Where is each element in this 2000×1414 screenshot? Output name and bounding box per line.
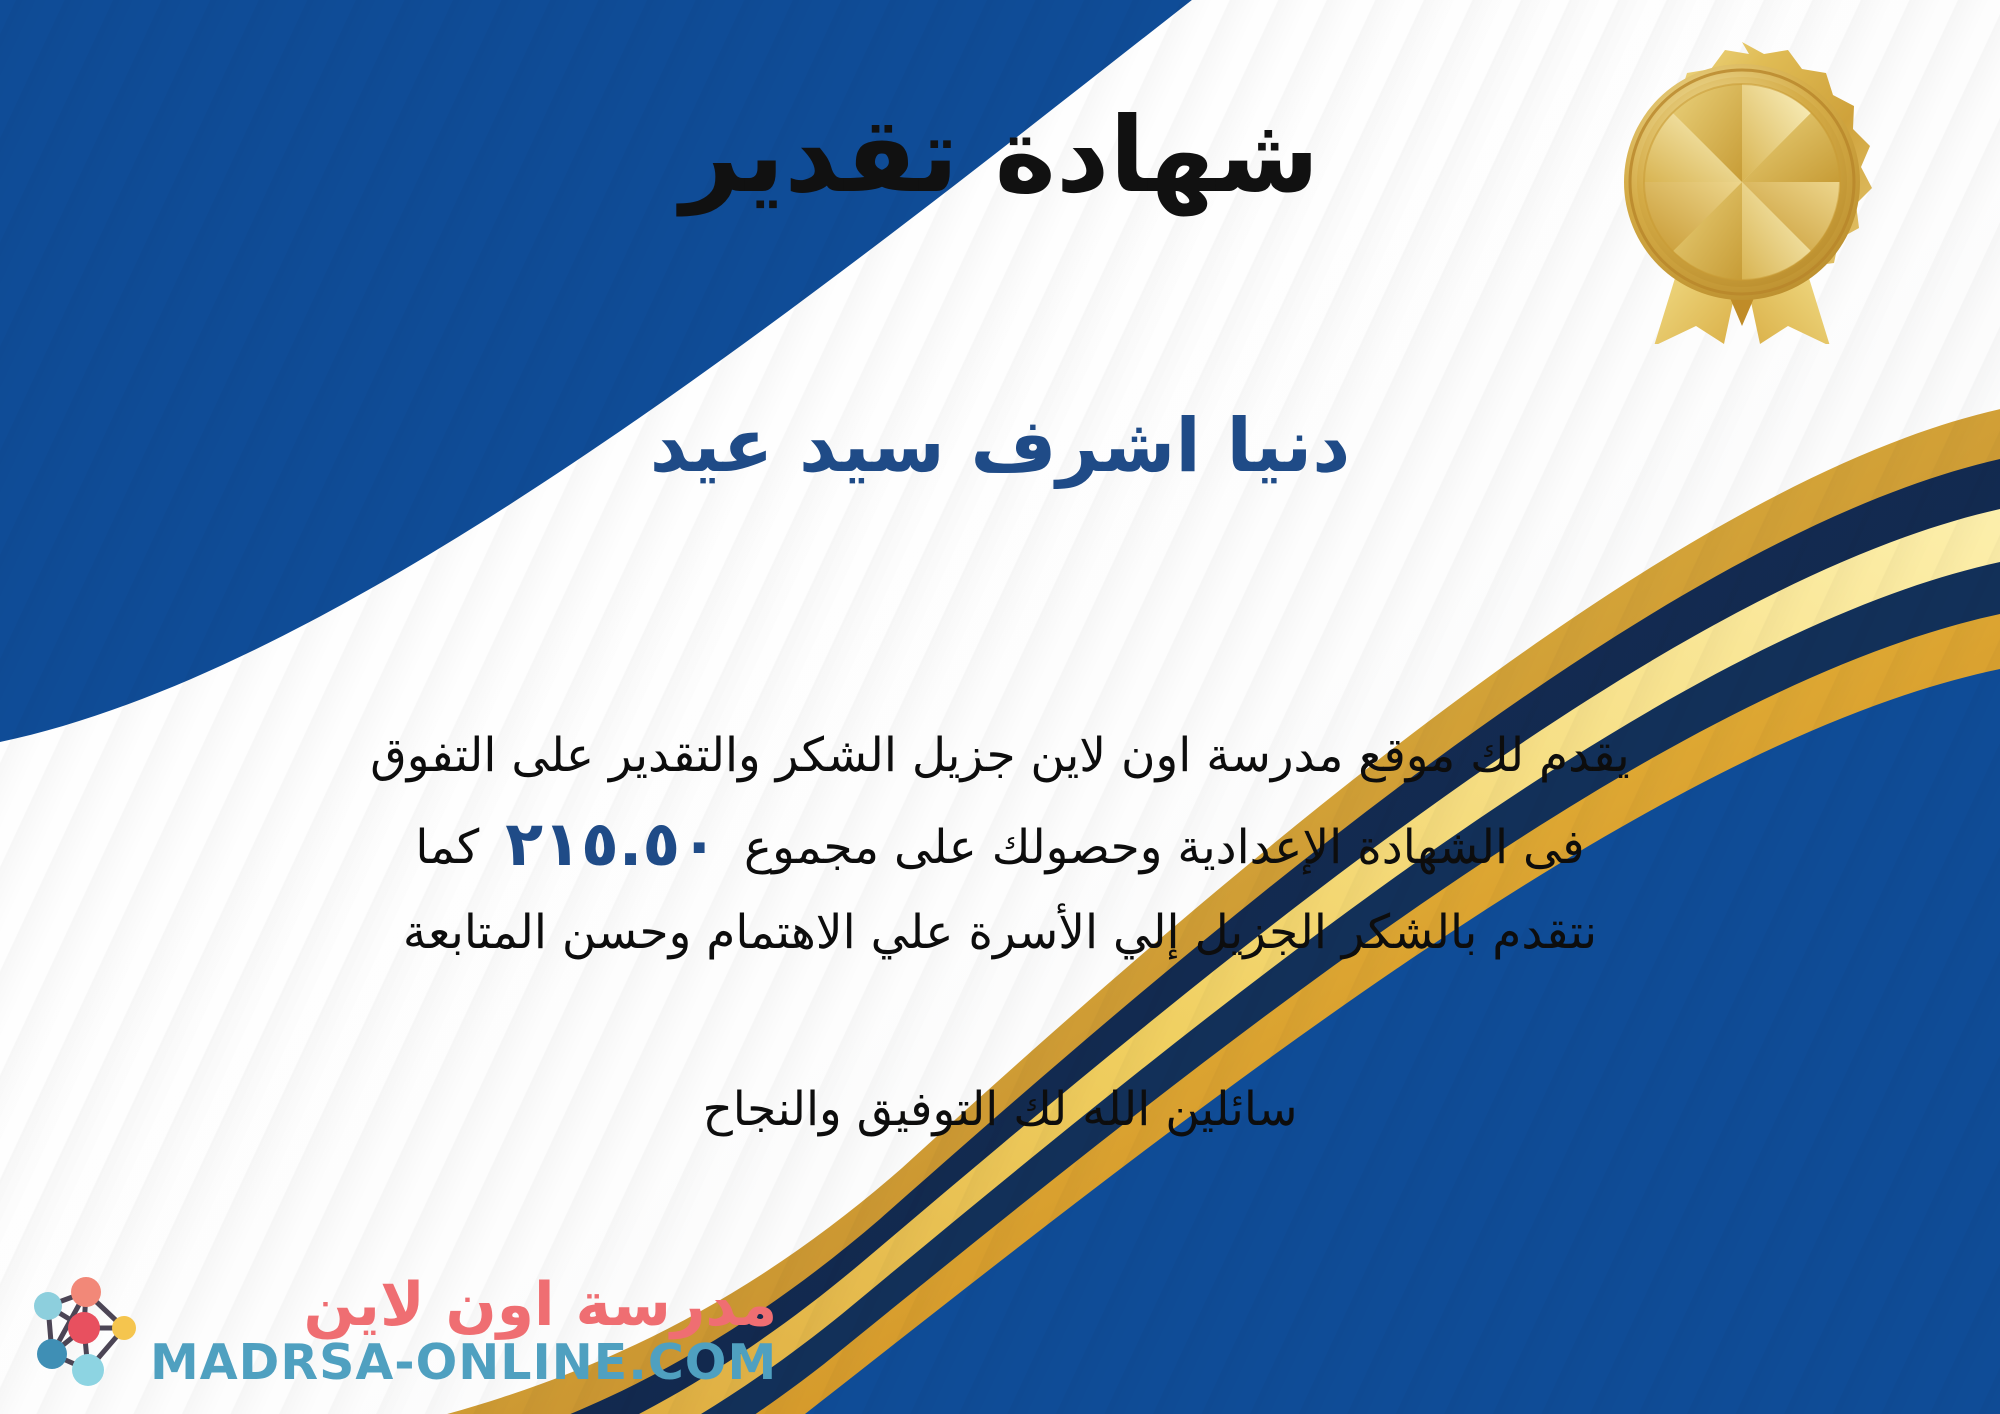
gold-award-medal-icon: [1592, 34, 1892, 344]
network-nodes-icon: [26, 1272, 138, 1390]
brand-logo[interactable]: مدرسة اون لاين MADRSA-ONLINE.COM: [26, 1272, 777, 1390]
recipient-name: دنيا اشرف سيد عيد: [0, 402, 2000, 491]
body-line-2: فى الشهادة الإعدادية وحصولك على مجموع٢١٥…: [52, 794, 1948, 894]
body-line-2-suffix: كما: [415, 820, 479, 875]
brand-name-arabic: مدرسة اون لاين: [303, 1274, 777, 1337]
certificate-page: شهادة تقدير دنيا اشرف سيد عيد يقدم لك مو…: [0, 0, 2000, 1414]
brand-website-url[interactable]: MADRSA-ONLINE.COM: [150, 1337, 777, 1388]
closing-wish: سائلين الله لك التوفيق والنجاح: [0, 1075, 2000, 1146]
total-score: ٢١٥.٥٠: [479, 807, 744, 880]
body-line-3: نتقدم بالشكر الجزيل إلي الأسرة علي الاهت…: [52, 895, 1948, 971]
body-line-2-prefix: فى الشهادة الإعدادية وحصولك على مجموع: [744, 820, 1585, 875]
body-line-1: يقدم لك موقع مدرسة اون لاين جزيل الشكر و…: [52, 718, 1948, 794]
certificate-body: يقدم لك موقع مدرسة اون لاين جزيل الشكر و…: [52, 718, 1948, 971]
